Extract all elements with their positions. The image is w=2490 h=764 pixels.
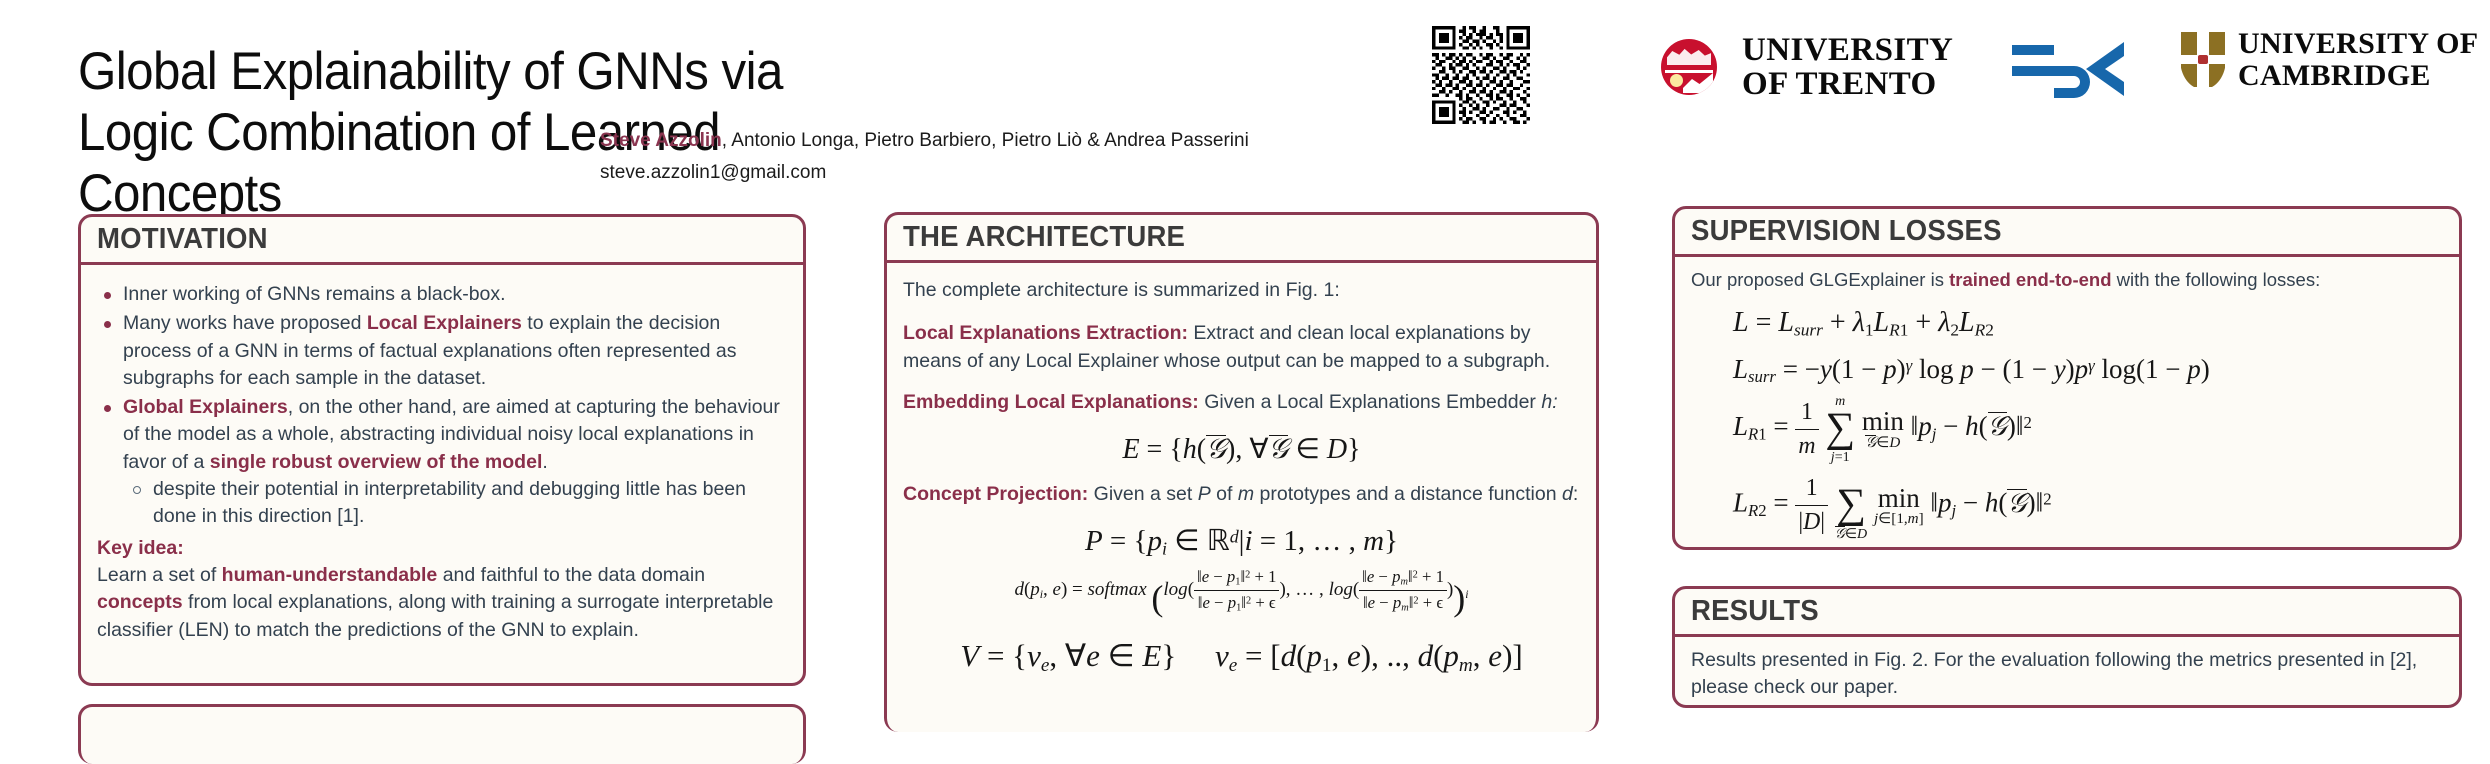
- key-idea-text: and faithful to the data domain: [437, 564, 705, 586]
- university-of-trento-logo: UNIVERSITY OF TRENTO: [1650, 28, 1953, 106]
- key-idea-highlight: concepts: [97, 591, 183, 613]
- motivation-body: Inner working of GNNs remains a black-bo…: [81, 265, 803, 654]
- coauthors: , Antonio Longa, Pietro Barbiero, Pietro…: [722, 130, 1249, 151]
- trento-wordmark-line2: OF TRENTO: [1742, 67, 1953, 101]
- step-3-sym-p: P: [1198, 483, 1211, 505]
- results-body: Results presented in Fig. 2. For the eva…: [1675, 637, 2459, 712]
- trento-wordmark-line1: UNIVERSITY: [1742, 33, 1953, 67]
- losses-card-header: SUPERVISION LOSSES: [1675, 209, 2459, 257]
- results-card-header: RESULTS: [1675, 589, 2459, 637]
- architecture-step-2: Embedding Local Explanations: Given a Lo…: [903, 389, 1580, 416]
- list-item: Inner working of GNNs remains a black-bo…: [123, 281, 787, 308]
- bullet-text: .: [542, 451, 547, 473]
- supervision-losses-card: SUPERVISION LOSSES Our proposed GLGExpla…: [1672, 206, 2462, 550]
- equation-regularizer-r2: LR2 = 1|D| ∑𝒢∈D minj∈[1,m] ‖pj − h(𝒢)‖2: [1691, 470, 2443, 541]
- trento-seal-icon: [1650, 28, 1728, 106]
- bullet-highlight: Global Explainers: [123, 396, 288, 418]
- contact-email: steve.azzolin1@gmail.com: [600, 159, 1360, 188]
- step-3-label: Concept Projection:: [903, 483, 1088, 505]
- motivation-heading: MOTIVATION: [97, 223, 268, 256]
- list-item: Many works have proposed Local Explainer…: [123, 310, 787, 392]
- equation-surrogate-loss: Lsurr = −y(1 − p)γ log p − (1 − y)pγ log…: [1691, 351, 2443, 389]
- motivation-sub-list: despite their potential in interpretabil…: [123, 476, 787, 531]
- qr-code-icon[interactable]: [1432, 26, 1530, 124]
- step-3-text-a: Given a set: [1088, 483, 1197, 505]
- motivation-card-header: MOTIVATION: [81, 217, 803, 265]
- key-idea-label: Key idea:: [97, 535, 787, 562]
- bullet-text: Inner working of GNNs remains a black-bo…: [123, 283, 506, 305]
- cambridge-wordmark-line2: CAMBRIDGE: [2238, 60, 2478, 92]
- architecture-card: THE ARCHITECTURE The complete architectu…: [884, 212, 1599, 732]
- equation-prototypes: P = {pi ∈ ℝd|i = 1, … , m}: [903, 521, 1580, 562]
- equation-distance: d(pi, e) = softmax (log(‖e − p1‖2 + 1‖e …: [903, 565, 1580, 624]
- step-2-symbol: h:: [1541, 391, 1557, 413]
- results-card: RESULTS Results presented in Fig. 2. For…: [1672, 586, 2462, 708]
- results-text: Results presented in Fig. 2. For the eva…: [1691, 647, 2443, 702]
- step-3-text-b: of: [1211, 483, 1238, 505]
- motivation-next-card-partial: [78, 704, 806, 764]
- step-3-sym-m: m: [1238, 483, 1254, 505]
- step-2-label: Embedding Local Explanations:: [903, 391, 1199, 413]
- architecture-intro: The complete architecture is summarized …: [903, 277, 1580, 304]
- motivation-bullet-list: Inner working of GNNs remains a black-bo…: [97, 281, 787, 531]
- losses-intro-a: Our proposed GLGExplainer is: [1691, 269, 1949, 290]
- step-2-text: Given a Local Explanations Embedder: [1199, 391, 1542, 413]
- losses-intro-c: with the following losses:: [2112, 269, 2321, 290]
- cambridge-wordmark-line1: UNIVERSITY OF: [2238, 28, 2478, 60]
- architecture-card-header: THE ARCHITECTURE: [887, 215, 1596, 263]
- step-3-colon: :: [1573, 483, 1578, 505]
- cambridge-wordmark: UNIVERSITY OF CAMBRIDGE: [2238, 28, 2478, 92]
- equation-concept-vector: V = {ve, ∀e ∈ E} ve = [d(p1, e), .., d(p…: [903, 634, 1580, 680]
- bullet-highlight: single robust overview of the model: [210, 451, 543, 473]
- cambridge-shield-icon: [2180, 31, 2226, 89]
- key-idea-text: from local explanations, along with trai…: [97, 591, 773, 640]
- step-3-text-c: prototypes and a distance function: [1254, 483, 1562, 505]
- key-idea-text: Learn a set of: [97, 564, 222, 586]
- equation-embedding: E = {h(𝒢), ∀𝒢 ∈ D}: [903, 430, 1580, 469]
- lead-author: Steve Azzolin: [600, 130, 722, 151]
- losses-heading: SUPERVISION LOSSES: [1691, 215, 2002, 248]
- losses-body: Our proposed GLGExplainer is trained end…: [1675, 257, 2459, 553]
- sub-bullet-text: despite their potential in interpretabil…: [153, 478, 746, 527]
- step-1-label: Local Explanations Extraction:: [903, 322, 1188, 344]
- author-block: Steve Azzolin, Antonio Longa, Pietro Bar…: [600, 128, 1360, 187]
- architecture-step-3: Concept Projection: Given a set P of m p…: [903, 481, 1580, 508]
- results-heading: RESULTS: [1691, 595, 1819, 628]
- key-idea-block: Key idea: Learn a set of human-understan…: [97, 535, 787, 644]
- bullet-highlight: Local Explainers: [367, 312, 522, 334]
- author-list: Steve Azzolin, Antonio Longa, Pietro Bar…: [600, 128, 1360, 154]
- bullet-text: Many works have proposed: [123, 312, 367, 334]
- key-idea-highlight: human-understandable: [222, 564, 438, 586]
- losses-intro-highlight: trained end-to-end: [1949, 269, 2111, 290]
- equation-regularizer-r1: LR1 = 1m m∑j=1 min𝒢∈D ‖pj − h(𝒢)‖2: [1691, 394, 2443, 464]
- university-of-cambridge-logo: UNIVERSITY OF CAMBRIDGE: [2180, 28, 2478, 92]
- equation-total-loss: L = Lsurr + λ1LR1 + λ2LR2: [1691, 303, 2443, 343]
- losses-intro: Our proposed GLGExplainer is trained end…: [1691, 267, 2443, 293]
- fbk-logo-icon: [2012, 40, 2132, 98]
- trento-wordmark: UNIVERSITY OF TRENTO: [1742, 33, 1953, 102]
- architecture-body: The complete architecture is summarized …: [887, 263, 1596, 690]
- list-item: Global Explainers, on the other hand, ar…: [123, 394, 787, 530]
- motivation-card: MOTIVATION Inner working of GNNs remains…: [78, 214, 806, 686]
- list-item: despite their potential in interpretabil…: [153, 476, 787, 531]
- architecture-step-1: Local Explanations Extraction: Extract a…: [903, 320, 1580, 375]
- poster-header: Global Explainability of GNNs via Logic …: [0, 0, 2490, 190]
- architecture-heading: THE ARCHITECTURE: [903, 221, 1185, 254]
- step-3-sym-d: d: [1562, 483, 1573, 505]
